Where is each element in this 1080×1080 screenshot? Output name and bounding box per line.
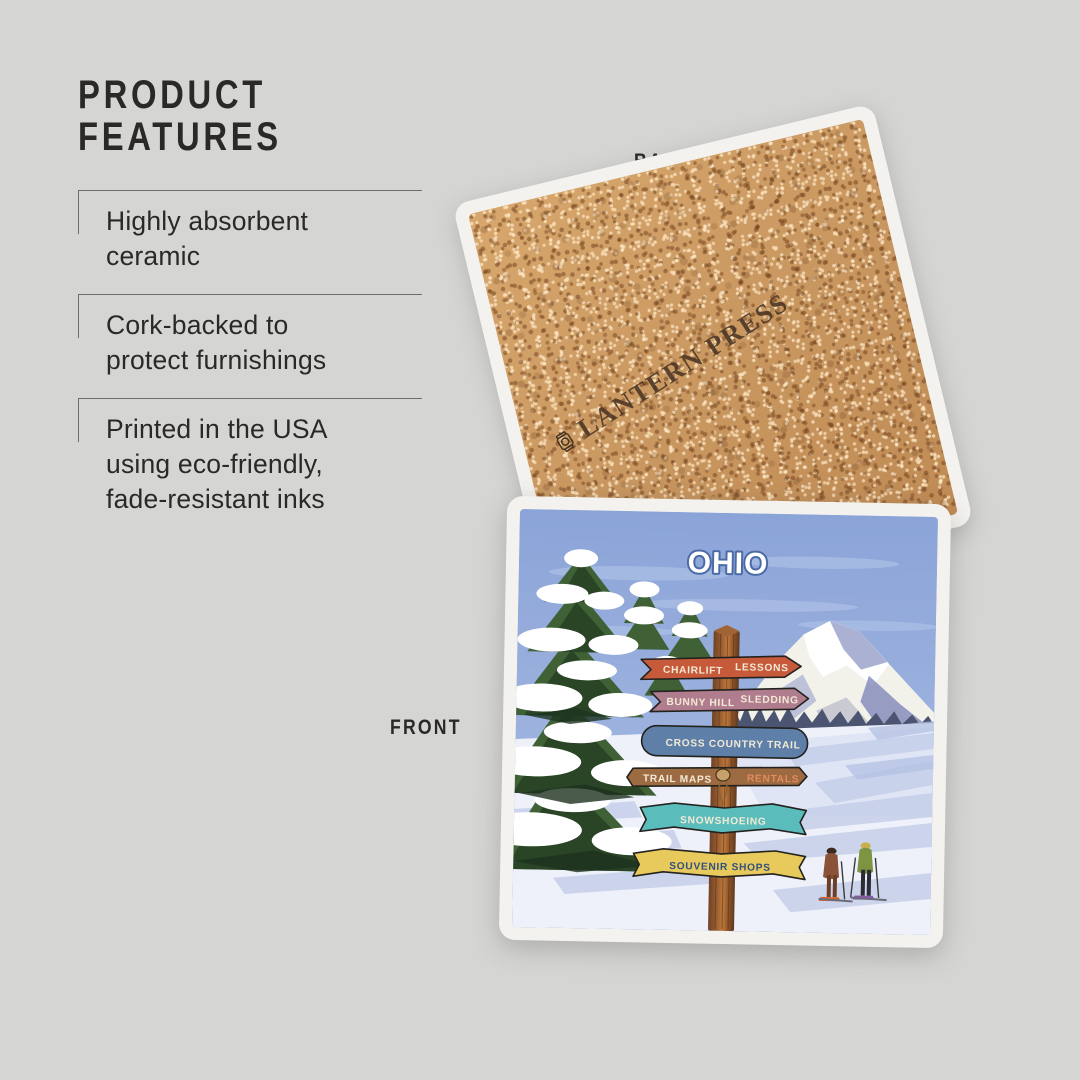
coaster-front: CHAIRLIFT LESSONS BUNNY HILL SLEDDING CR… xyxy=(499,496,951,948)
feature-bracket-tick xyxy=(78,294,79,338)
sign-label-bunny-hill: BUNNY HILL xyxy=(666,697,735,709)
product-features-panel: PRODUCT FEATURES Highly absorbent cerami… xyxy=(78,74,478,537)
feature-text: Cork-backed to protect furnishings xyxy=(106,308,478,378)
product-image-canvas: PRODUCT FEATURES Highly absorbent cerami… xyxy=(0,0,1080,1080)
sign-cross-country-trail[interactable]: CROSS COUNTRY TRAIL xyxy=(641,725,808,758)
page-title: PRODUCT FEATURES xyxy=(78,74,406,158)
sign-label-snowshoeing: SNOWSHOEING xyxy=(680,815,767,828)
feature-divider xyxy=(78,398,422,399)
feature-divider xyxy=(78,190,422,191)
artwork-scene: CHAIRLIFT LESSONS BUNNY HILL SLEDDING CR… xyxy=(512,509,938,935)
ski-signpost-illustration: CHAIRLIFT LESSONS BUNNY HILL SLEDDING CR… xyxy=(512,509,938,935)
sign-label-rentals: RENTALS xyxy=(747,773,799,785)
sign-label-souvenir-shops: SOUVENIR SHOPS xyxy=(669,861,771,874)
artwork-title: OHIO xyxy=(687,546,768,581)
feature-bracket-tick xyxy=(78,190,79,234)
feature-text: Printed in the USA using eco-friendly, f… xyxy=(106,412,478,517)
feature-divider xyxy=(78,294,422,295)
brand-stamp: LANTERN PRESS xyxy=(549,287,795,459)
sign-label-sledding: SLEDDING xyxy=(740,694,798,706)
coaster-artwork: CHAIRLIFT LESSONS BUNNY HILL SLEDDING CR… xyxy=(512,509,938,935)
feature-item: Cork-backed to protect furnishings xyxy=(78,294,478,398)
feature-item: Highly absorbent ceramic xyxy=(78,190,478,294)
feature-bracket-tick xyxy=(78,398,79,442)
feature-list: Highly absorbent ceramic Cork-backed to … xyxy=(78,190,478,537)
feature-text: Highly absorbent ceramic xyxy=(106,204,478,274)
feature-item: Printed in the USA using eco-friendly, f… xyxy=(78,398,478,537)
callout-label-front: FRONT xyxy=(390,716,462,740)
sign-label-trail-maps: TRAIL MAPS xyxy=(643,773,712,785)
lantern-icon xyxy=(551,427,579,457)
brand-name: LANTERN PRESS xyxy=(573,287,795,444)
sign-label-chairlift: CHAIRLIFT xyxy=(663,665,723,677)
sign-label-lessons: LESSONS xyxy=(735,662,789,674)
